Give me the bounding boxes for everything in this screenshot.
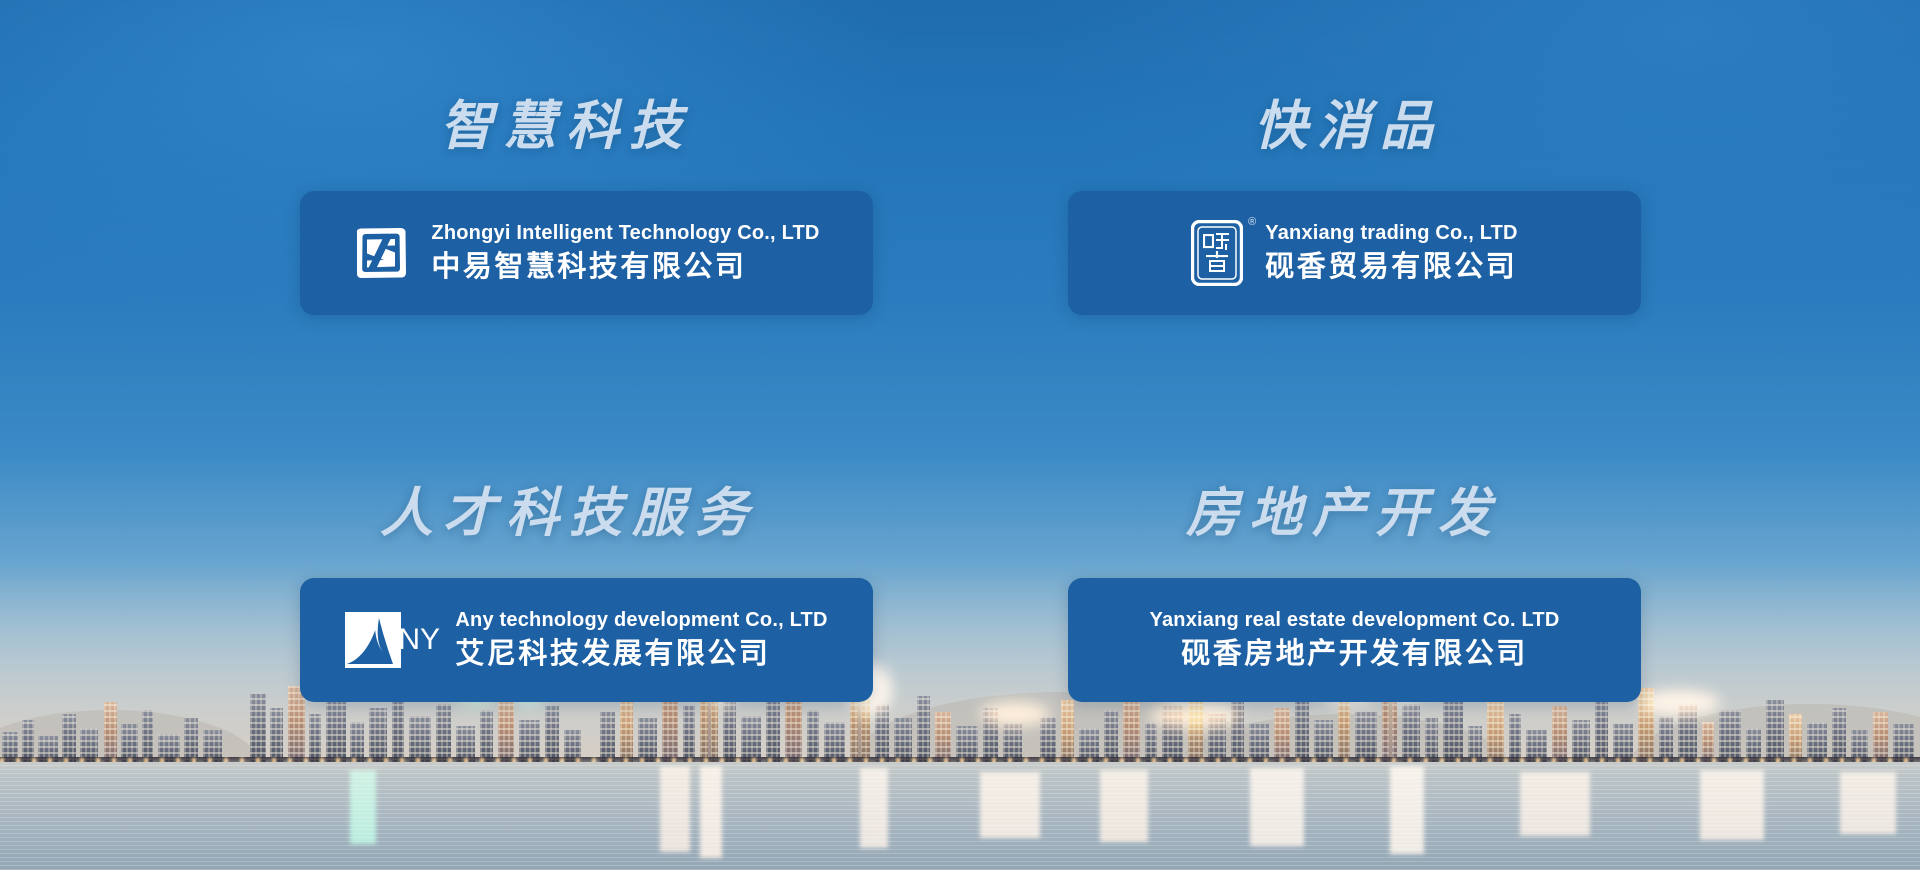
company-card-any-technology[interactable]: NY Any technology development Co., LTD 艾… [300,578,873,702]
registered-trademark-icon: ® [1248,217,1256,228]
company-info-any-technology: Any technology development Co., LTD 艾尼科技… [455,609,827,672]
company-info-yanxiang-real-estate: Yanxiang real estate development Co. LTD… [1150,609,1560,672]
yanxiang-seal-logo: ® [1191,220,1243,286]
sector-heading-smart-technology: 智慧科技 [440,100,873,153]
sector-block-talent-tech-services: 人才科技服务 NY Any technology development Co.… [300,487,873,702]
business-sectors-grid: 智慧科技 Zhongyi Intelligent Technology Co.,… [0,0,1920,870]
company-card-yanxiang-trading[interactable]: ® Yanxiang trading Co., LTD 砚香贸易有限公司 [1068,191,1641,315]
company-name-cn-yanxiang-trading: 砚香贸易有限公司 [1265,250,1517,285]
sector-heading-real-estate: 房地产开发 [1186,487,1641,540]
company-card-yanxiang-real-estate[interactable]: Yanxiang real estate development Co. LTD… [1068,578,1641,702]
zhongyi-z-seal-logo [353,225,409,281]
any-mountain-logo: NY [345,612,433,668]
sector-block-smart-technology: 智慧科技 Zhongyi Intelligent Technology Co.,… [300,100,873,315]
any-square-mark [345,612,401,668]
company-info-yanxiang-trading: Yanxiang trading Co., LTD 砚香贸易有限公司 [1265,222,1517,285]
sector-block-real-estate: 房地产开发 Yanxiang real estate development C… [1068,487,1641,702]
company-name-en-any-technology: Any technology development Co., LTD [455,609,827,632]
sector-block-fmcg: 快消品 [1068,100,1641,315]
sector-heading-fmcg: 快消品 [1254,100,1641,153]
any-logo-text: NY [398,612,440,668]
company-info-zhongyi: Zhongyi Intelligent Technology Co., LTD … [431,222,819,285]
sector-heading-talent-tech-services: 人才科技服务 [380,487,873,540]
company-name-en-yanxiang-real-estate: Yanxiang real estate development Co. LTD [1150,609,1560,632]
company-name-cn-yanxiang-real-estate: 砚香房地产开发有限公司 [1181,637,1528,672]
company-name-en-zhongyi: Zhongyi Intelligent Technology Co., LTD [431,222,819,245]
company-name-en-yanxiang-trading: Yanxiang trading Co., LTD [1265,222,1517,245]
company-name-cn-zhongyi: 中易智慧科技有限公司 [431,250,819,285]
company-name-cn-any-technology: 艾尼科技发展有限公司 [455,637,827,672]
company-card-zhongyi[interactable]: Zhongyi Intelligent Technology Co., LTD … [300,191,873,315]
